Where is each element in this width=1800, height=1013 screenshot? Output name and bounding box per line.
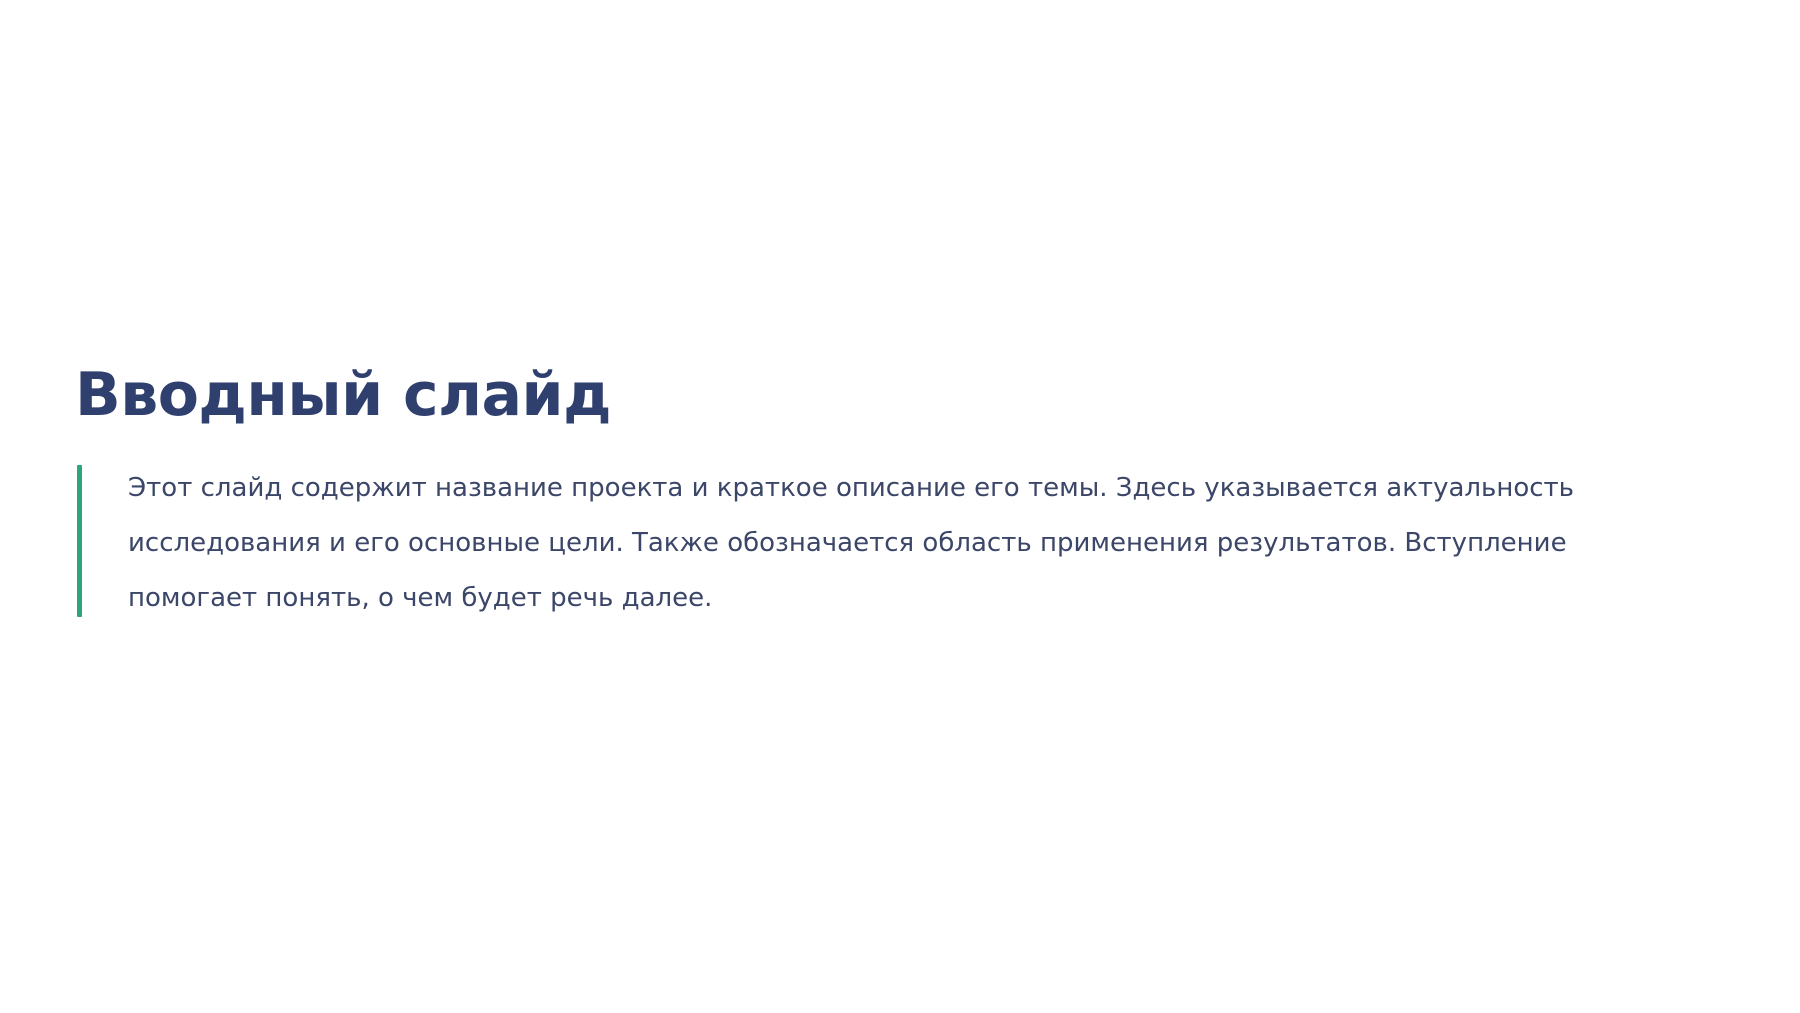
- slide-canvas: Вводный слайд Этот слайд содержит назван…: [0, 0, 1800, 1013]
- slide-description: Этот слайд содержит название проекта и к…: [128, 461, 1606, 626]
- accent-bar: [77, 465, 82, 617]
- body-block: Этот слайд содержит название проекта и к…: [75, 461, 1605, 626]
- slide-content: Вводный слайд Этот слайд содержит назван…: [75, 362, 1605, 626]
- page-title: Вводный слайд: [75, 362, 1605, 429]
